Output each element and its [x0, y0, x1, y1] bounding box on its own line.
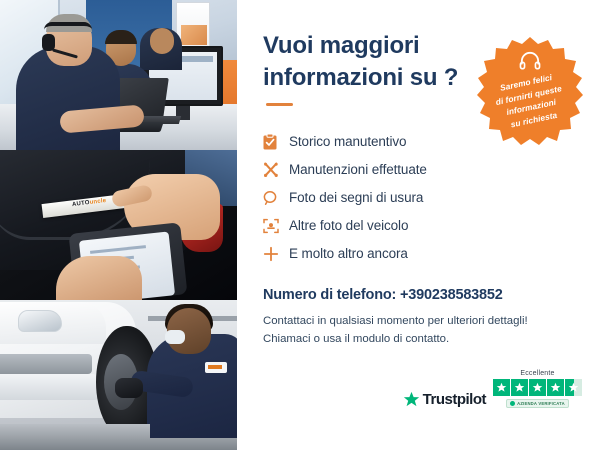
- star-icon: [529, 379, 546, 396]
- call-center-operators-photo: [0, 0, 237, 150]
- verified-company-badge: AZIENDA VERIFICATA: [506, 399, 569, 408]
- list-item-label: Altre foto del veicolo: [289, 218, 408, 233]
- list-item: Foto dei segni di usura: [263, 184, 578, 211]
- mechanic-wheel-inspection-photo: [0, 300, 237, 450]
- vehicle-inspection-strip-photo: AUTOuncle: [0, 150, 237, 300]
- trustpilot-rating: Eccellente: [493, 370, 582, 408]
- trustpilot-widget[interactable]: Trustpilot Eccellente: [403, 370, 582, 408]
- phone-heading: Numero di telefono: +390238583852: [263, 287, 578, 303]
- headset-icon: [519, 51, 541, 71]
- list-item: Altre foto del veicolo: [263, 212, 578, 239]
- list-item-label: E molto altro ancora: [289, 246, 408, 261]
- scan-frame-icon: [263, 216, 289, 236]
- headline-line-1: Vuoi maggiori: [263, 32, 420, 59]
- list-item-label: Storico manutentivo: [289, 134, 406, 149]
- list-item: Manutenzioni effettuate: [263, 156, 578, 183]
- trustpilot-star-icon: [403, 391, 420, 408]
- star-icon-half: [565, 379, 582, 396]
- star-icon: [547, 379, 564, 396]
- trustpilot-brand-label: Trustpilot: [423, 391, 486, 408]
- contact-subtext-line-1: Contattaci in qualsiasi momento per ulte…: [263, 315, 528, 327]
- verified-check-icon: [510, 401, 515, 406]
- content-panel: Vuoi maggiori informazioni su ? Saremo f…: [237, 0, 600, 450]
- plus-icon: [263, 244, 289, 264]
- headline-line-2: informazioni su ?: [263, 64, 458, 91]
- star-icon: [511, 379, 528, 396]
- contact-block: Numero di telefono: +390238583852 Contat…: [263, 287, 578, 348]
- phone-number[interactable]: +390238583852: [400, 287, 503, 303]
- promo-card: AUTOuncle Vuoi maggiori informazioni su …: [0, 0, 600, 450]
- star-rating: [493, 379, 582, 396]
- page-title: Vuoi maggiori informazioni su ?: [263, 30, 473, 93]
- trustpilot-logo: Trustpilot: [403, 391, 486, 408]
- request-info-badge: Saremo felici di fornirti queste informa…: [472, 35, 588, 151]
- tools-cross-icon: [263, 160, 289, 180]
- list-item: E molto altro ancora: [263, 240, 578, 267]
- list-item-label: Manutenzioni effettuate: [289, 162, 427, 177]
- title-underline: [266, 103, 293, 106]
- trustpilot-rating-label: Eccellente: [520, 370, 554, 377]
- contact-subtext-line-2: Chiamaci o usa il modulo di contatto.: [263, 333, 449, 345]
- clipboard-check-icon: [263, 132, 289, 152]
- star-icon: [493, 379, 510, 396]
- magnifier-icon: [263, 188, 289, 208]
- photo-column: AUTOuncle: [0, 0, 237, 450]
- list-item-label: Foto dei segni di usura: [289, 190, 423, 205]
- verified-label: AZIENDA VERIFICATA: [517, 401, 565, 406]
- contact-subtext: Contattaci in qualsiasi momento per ulte…: [263, 313, 578, 348]
- phone-label: Numero di telefono:: [263, 287, 396, 303]
